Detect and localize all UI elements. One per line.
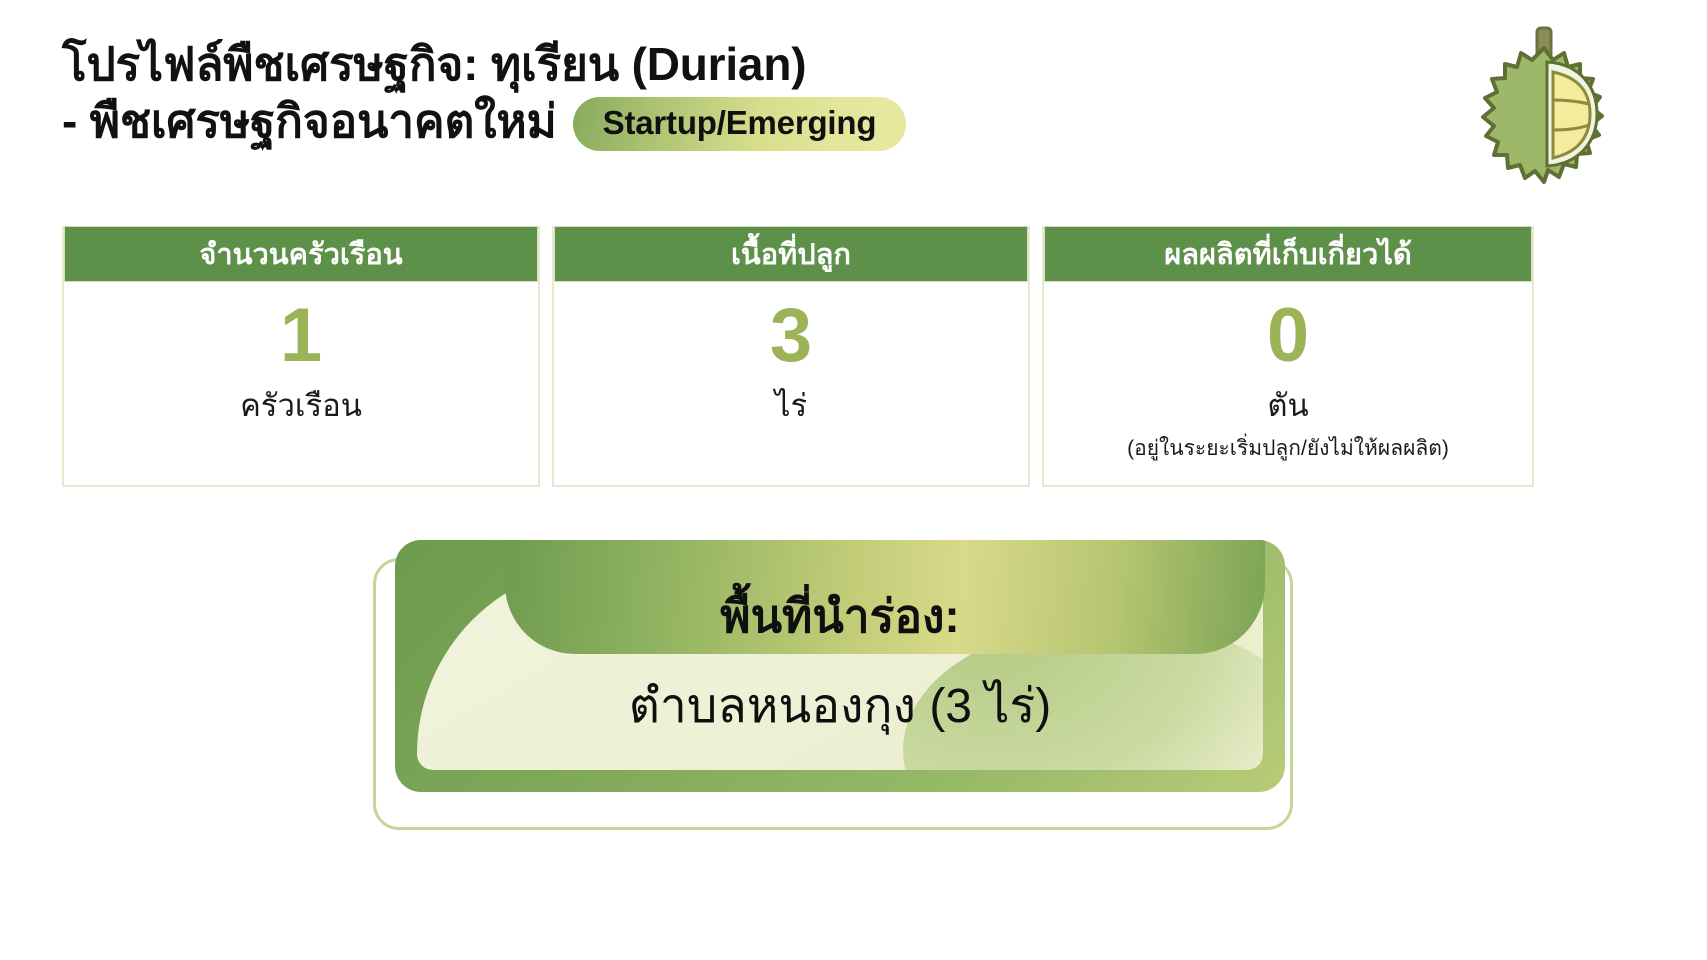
card-unit: ไร่ <box>775 380 807 430</box>
card-value: 3 <box>770 296 812 376</box>
pilot-area-value: ตำบลหนองกุง (3 ไร่) <box>395 668 1285 744</box>
pilot-area-banner: พื้นที่นำร่อง: ตำบลหนองกุง (3 ไร่) <box>395 540 1315 830</box>
card-header-label: ผลผลิตที่เก็บเกี่ยวได้ <box>1044 226 1532 282</box>
card-header-label: เนื้อที่ปลูก <box>554 226 1028 282</box>
card-body: 3 ไร่ <box>554 282 1028 485</box>
card-body: 0 ตัน (อยู่ในระยะเริ่มปลูก/ยังไม่ให้ผลผล… <box>1044 282 1532 485</box>
durian-icon <box>1469 22 1619 202</box>
slide-root: โปรไฟล์พืชเศรษฐกิจ: ทุเรียน (Durian) - พ… <box>0 0 1707 960</box>
stat-card-planted-area: เนื้อที่ปลูก 3 ไร่ <box>552 226 1030 487</box>
stat-card-households: จำนวนครัวเรือน 1 ครัวเรือน <box>62 226 540 487</box>
status-badge: Startup/Emerging <box>573 97 907 151</box>
pilot-area-label: พื้นที่นำร่อง: <box>395 580 1285 653</box>
stat-cards: จำนวนครัวเรือน 1 ครัวเรือน เนื้อที่ปลูก … <box>62 226 1646 487</box>
title-line-2-row: - พืชเศรษฐกิจอนาคตใหม่ Startup/Emerging <box>62 93 1352 150</box>
card-unit: ครัวเรือน <box>240 380 362 430</box>
page-title: โปรไฟล์พืชเศรษฐกิจ: ทุเรียน (Durian) - พ… <box>62 36 1352 150</box>
title-line-1: โปรไฟล์พืชเศรษฐกิจ: ทุเรียน (Durian) <box>62 36 1352 93</box>
stat-card-harvest-yield: ผลผลิตที่เก็บเกี่ยวได้ 0 ตัน (อยู่ในระยะ… <box>1042 226 1534 487</box>
banner-outer-panel: พื้นที่นำร่อง: ตำบลหนองกุง (3 ไร่) <box>395 540 1285 792</box>
title-line-2: - พืชเศรษฐกิจอนาคตใหม่ <box>62 93 557 150</box>
card-note: (อยู่ในระยะเริ่มปลูก/ยังไม่ให้ผลผลิต) <box>1127 432 1449 465</box>
card-unit: ตัน <box>1267 380 1308 430</box>
card-value: 0 <box>1267 296 1309 376</box>
card-header-label: จำนวนครัวเรือน <box>64 226 538 282</box>
card-value: 1 <box>280 296 322 376</box>
card-body: 1 ครัวเรือน <box>64 282 538 485</box>
